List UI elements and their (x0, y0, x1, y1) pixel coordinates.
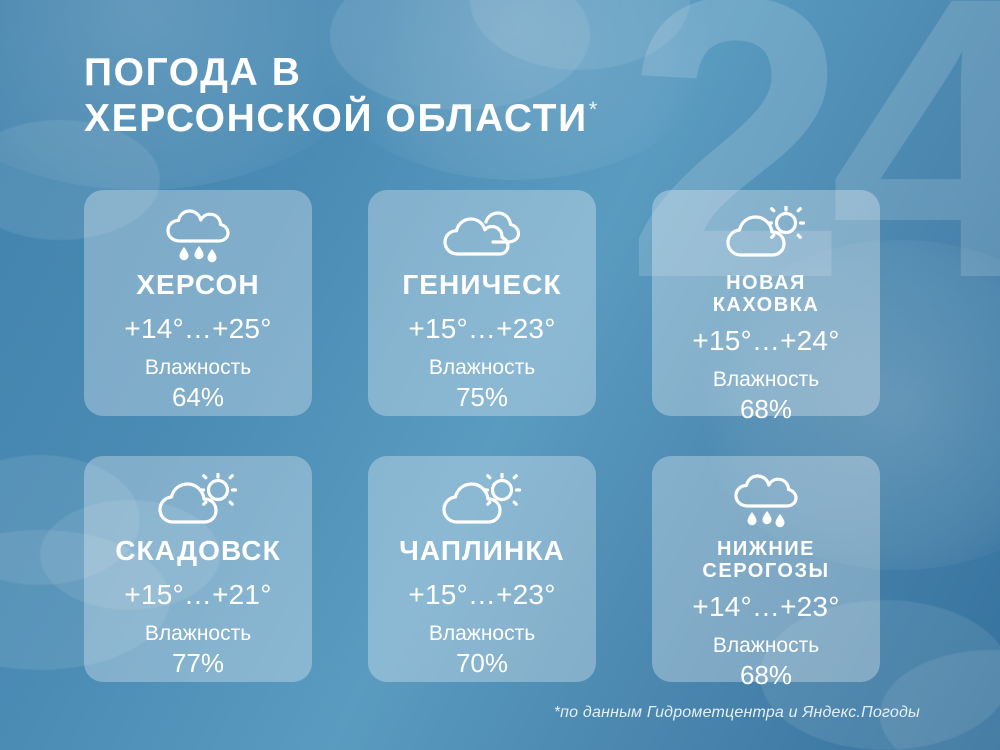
title-asterisk: * (589, 97, 598, 122)
source-footnote: *по данным Гидрометцентра и Яндекс.Погод… (554, 704, 920, 722)
city-name: Чаплинка (399, 536, 565, 567)
temperature-range: +15°…+24° (692, 325, 839, 357)
humidity-value: 77% (172, 648, 224, 679)
weather-card-henichesk[interactable]: Геническ +15°…+23° Влажность 75% (368, 190, 596, 416)
humidity-label: Влажность (429, 356, 535, 380)
humidity-value: 75% (456, 382, 508, 413)
temperature-range: +15°…+23° (408, 579, 555, 611)
humidity-label: Влажность (145, 622, 251, 646)
weather-card-kherson[interactable]: Херсон +14°…+25° Влажность 64% (84, 190, 312, 416)
city-name: Херсон (136, 270, 259, 301)
humidity-label: Влажность (713, 368, 819, 392)
page-title: Погода в Херсонской области (84, 51, 588, 140)
temperature-range: +15°…+21° (124, 579, 271, 611)
weather-card-chaplynka[interactable]: Чаплинка +15°…+23° Влажность 70% (368, 456, 596, 682)
cloudy-icon (441, 206, 523, 266)
city-name: Новая Каховка (713, 272, 820, 316)
sun-behind-cloud-icon (724, 206, 808, 264)
weather-infographic: 24 Погода в Херсонской области* Херсон +… (0, 0, 1000, 750)
temperature-range: +15°…+23° (408, 313, 555, 345)
weather-card-skadovsk[interactable]: Скадовск +15°…+21° Влажность 77% (84, 456, 312, 682)
humidity-value: 68% (740, 660, 792, 691)
sun-behind-cloud-icon (156, 472, 240, 532)
title-block: Погода в Херсонской области* (84, 50, 597, 142)
humidity-value: 68% (740, 394, 792, 425)
humidity-label: Влажность (713, 634, 819, 658)
rain-cloud-icon (160, 206, 236, 266)
city-name: Нижние Серогозы (702, 538, 829, 582)
humidity-value: 64% (172, 382, 224, 413)
temperature-range: +14°…+23° (692, 591, 839, 623)
rain-cloud-icon (728, 472, 804, 530)
city-name: Скадовск (115, 536, 281, 567)
weather-card-nova-kakhovka[interactable]: Новая Каховка +15°…+24° Влажность 68% (652, 190, 880, 416)
sun-behind-cloud-icon (440, 472, 524, 532)
city-name: Геническ (402, 270, 561, 301)
weather-card-nyzhni-serohozy[interactable]: Нижние Серогозы +14°…+23° Влажность 68% (652, 456, 880, 682)
temperature-range: +14°…+25° (124, 313, 271, 345)
humidity-label: Влажность (429, 622, 535, 646)
humidity-value: 70% (456, 648, 508, 679)
weather-cards-grid: Херсон +14°…+25° Влажность 64% Геническ … (84, 190, 916, 682)
humidity-label: Влажность (145, 356, 251, 380)
